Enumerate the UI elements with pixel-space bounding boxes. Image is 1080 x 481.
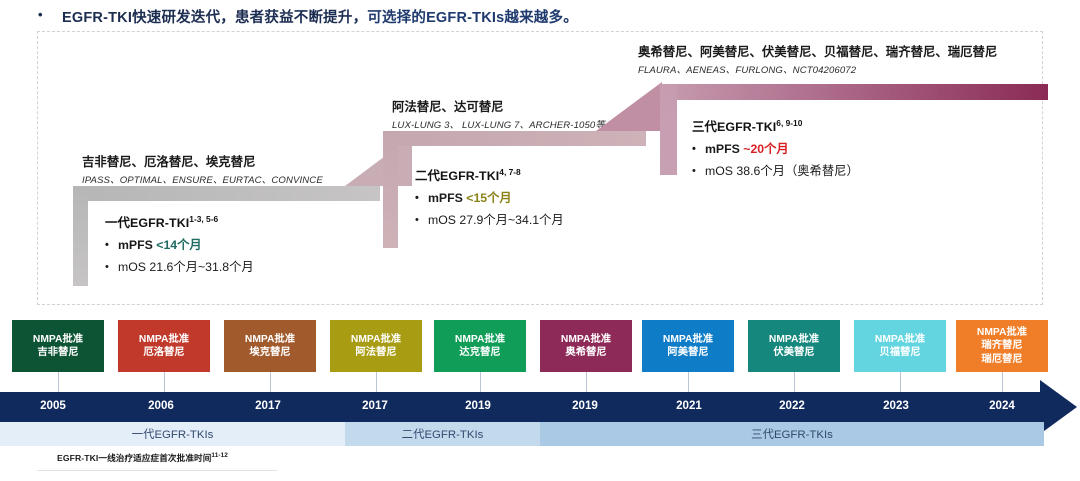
timeline-box-4-line1: NMPA批准 — [351, 333, 401, 346]
timeline-year-10: 2024 — [972, 399, 1032, 412]
gen1-trials: IPASS、OPTIMAL、ENSURE、EURTAC、CONVINCE — [82, 172, 382, 186]
list-bullet-icon: • — [692, 165, 705, 178]
timeline-year-4: 2017 — [345, 399, 405, 412]
timeline-box-10-line1: NMPA批准 — [977, 326, 1027, 339]
list-bullet-icon: • — [415, 214, 428, 227]
timeline-box-5[interactable]: NMPA批准达克替尼 — [434, 320, 526, 372]
timeline-year-2: 2006 — [131, 399, 191, 412]
timeline-year-3: 2017 — [238, 399, 298, 412]
timeline-box-2-line1: NMPA批准 — [139, 333, 189, 346]
gen3-trials: FLAURA、AENEAS、FURLONG、NCT04206072 — [638, 62, 1058, 76]
gen3-mos: •mOS 38.6个月（奥希替尼） — [692, 164, 1060, 179]
timeline-year-1: 2005 — [23, 399, 83, 412]
timeline-box-5-line2: 达克替尼 — [455, 346, 505, 359]
timeline-year-6: 2019 — [555, 399, 615, 412]
headline-emphasis: 可选择的EGFR-TKIs越来越多。 — [367, 10, 578, 26]
gen2-top-bar — [383, 131, 646, 146]
timeline-box-1[interactable]: NMPA批准吉非替尼 — [12, 320, 104, 372]
timeline-stem-3 — [270, 372, 271, 392]
timeline-box-9[interactable]: NMPA批准贝福替尼 — [854, 320, 946, 372]
timeline-box-3[interactable]: NMPA批准埃克替尼 — [224, 320, 316, 372]
footnote-sup: 11-12 — [211, 452, 228, 459]
timeline-box-4-line2: 阿法替尼 — [351, 346, 401, 359]
gen3-label: 三代EGFR-TKI6, 9-10 — [692, 117, 1060, 135]
list-bullet-icon: • — [692, 143, 705, 156]
timeline-stem-9 — [900, 372, 901, 392]
footnote-text: EGFR-TKI一线治疗适应症首次批准时间 — [57, 453, 211, 463]
timeline-box-1-line1: NMPA批准 — [33, 333, 83, 346]
timeline-box-8-line1: NMPA批准 — [769, 333, 819, 346]
timeline-box-8-line2: 伏美替尼 — [769, 346, 819, 359]
gen1-mpfs-value: <14个月 — [156, 238, 201, 252]
timeline-box-7-line1: NMPA批准 — [663, 333, 713, 346]
timeline-box-7-line2: 阿美替尼 — [663, 346, 713, 359]
gen2-sup: 4, 7-8 — [499, 167, 520, 177]
timeline-stem-8 — [794, 372, 795, 392]
timeline-stem-10 — [1002, 372, 1003, 392]
gen2-mpfs: •mPFS <15个月 — [415, 191, 713, 206]
timeline-stem-4 — [376, 372, 377, 392]
list-bullet-icon: • — [415, 192, 428, 205]
gen-strip-2: 二代EGFR-TKIs — [345, 422, 540, 446]
timeline-stem-1 — [58, 372, 59, 392]
footnote-rule — [37, 470, 277, 471]
timeline-box-6-line1: NMPA批准 — [561, 333, 611, 346]
timeline-box-9-line2: 贝福替尼 — [875, 346, 925, 359]
gen1-stats: 一代EGFR-TKI1-3, 5-6 •mPFS <14个月 •mOS 21.6… — [73, 198, 383, 275]
timeline-box-8[interactable]: NMPA批准伏美替尼 — [748, 320, 840, 372]
gen3-mpfs: •mPFS ~20个月 — [692, 142, 1060, 157]
gen1-sup: 1-3, 5-6 — [189, 214, 218, 224]
page-title: • EGFR-TKI快速研发迭代，患者获益不断提升，可选择的EGFR-TKIs越… — [38, 6, 1048, 27]
timeline-box-10-line2: 瑞齐替尼 — [977, 339, 1027, 352]
ramp-gen2-to-gen3-icon — [596, 82, 662, 131]
list-bullet-icon: • — [105, 239, 118, 252]
gen-strip-2-label: 二代EGFR-TKIs — [402, 426, 484, 442]
gen1-drugs: 吉非替尼、厄洛替尼、埃克替尼 — [82, 155, 382, 171]
timeline-box-4[interactable]: NMPA批准阿法替尼 — [330, 320, 422, 372]
gen1-mos: •mOS 21.6个月~31.8个月 — [105, 260, 383, 275]
timeline-box-7[interactable]: NMPA批准阿美替尼 — [642, 320, 734, 372]
timeline-stem-5 — [480, 372, 481, 392]
timeline-box-6[interactable]: NMPA批准奥希替尼 — [540, 320, 632, 372]
timeline-arrow-head-icon — [1040, 380, 1077, 434]
gen3-top-bar — [660, 84, 1048, 100]
timeline-box-10-line3: 瑞厄替尼 — [977, 353, 1027, 366]
gen1-label: 一代EGFR-TKI1-3, 5-6 — [105, 213, 383, 231]
gen2-mos: •mOS 27.9个月~34.1个月 — [415, 213, 713, 228]
gen2-mpfs-value: <15个月 — [466, 191, 511, 205]
timeline-year-8: 2022 — [762, 399, 822, 412]
timeline-box-3-line2: 埃克替尼 — [245, 346, 295, 359]
footnote: EGFR-TKI一线治疗适应症首次批准时间11-12 — [57, 452, 228, 464]
gen3-stats: 三代EGFR-TKI6, 9-10 •mPFS ~20个月 •mOS 38.6个… — [660, 102, 1060, 179]
timeline-box-2-line2: 厄洛替尼 — [139, 346, 189, 359]
tier-gen1-heading: 吉非替尼、厄洛替尼、埃克替尼 IPASS、OPTIMAL、ENSURE、EURT… — [82, 155, 382, 186]
gen-strip-1-label: 一代EGFR-TKIs — [132, 426, 214, 442]
gen1-mpfs: •mPFS <14个月 — [105, 238, 383, 253]
timeline-box-10[interactable]: NMPA批准瑞齐替尼瑞厄替尼 — [956, 320, 1048, 372]
slide-root: • EGFR-TKI快速研发迭代，患者获益不断提升，可选择的EGFR-TKIs越… — [0, 0, 1080, 481]
bullet-icon: • — [38, 7, 43, 22]
timeline-box-2[interactable]: NMPA批准厄洛替尼 — [118, 320, 210, 372]
tier-gen3-heading: 奥希替尼、阿美替尼、伏美替尼、贝福替尼、瑞齐替尼、瑞厄替尼 FLAURA、AEN… — [638, 45, 1058, 76]
timeline-stem-2 — [164, 372, 165, 392]
list-bullet-icon: • — [105, 261, 118, 274]
timeline-year-9: 2023 — [866, 399, 926, 412]
timeline-box-9-line1: NMPA批准 — [875, 333, 925, 346]
headline-plain: EGFR-TKI快速研发迭代，患者获益不断提升， — [62, 6, 367, 27]
gen-strip-1: 一代EGFR-TKIs — [0, 422, 345, 446]
timeline-year-5: 2019 — [448, 399, 508, 412]
gen-strip-3: 三代EGFR-TKIs — [540, 422, 1044, 446]
timeline-box-3-line1: NMPA批准 — [245, 333, 295, 346]
timeline-year-7: 2021 — [659, 399, 719, 412]
gen3-sup: 6, 9-10 — [776, 118, 802, 128]
gen3-drugs: 奥希替尼、阿美替尼、伏美替尼、贝福替尼、瑞齐替尼、瑞厄替尼 — [638, 45, 1058, 61]
timeline-box-6-line2: 奥希替尼 — [561, 346, 611, 359]
timeline-stem-7 — [688, 372, 689, 392]
timeline-box-5-line1: NMPA批准 — [455, 333, 505, 346]
timeline-stem-6 — [586, 372, 587, 392]
gen3-mpfs-value: ~20个月 — [743, 142, 788, 156]
gen-strip-3-label: 三代EGFR-TKIs — [751, 426, 833, 442]
timeline-box-1-line2: 吉非替尼 — [33, 346, 83, 359]
